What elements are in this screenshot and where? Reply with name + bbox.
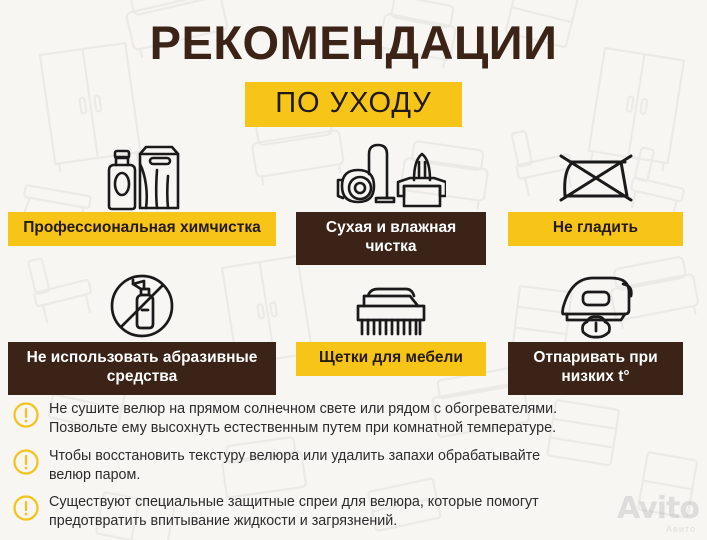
tip-text: Чтобы восстановить текстуру велюра или у… xyxy=(49,447,540,485)
care-card-icon-container xyxy=(8,270,276,342)
infographic-content: РЕКОМЕНДАЦИИ ПО УХОДУ xyxy=(0,0,707,540)
care-card-no-abrasives: Не использовать абразивные средства xyxy=(8,270,276,395)
warning-exclamation-icon xyxy=(12,494,40,522)
care-card-icon-container xyxy=(296,270,486,342)
care-card-label: Отпаривать при низких t° xyxy=(508,342,683,395)
vacuum-cleaner-and-wet-wipes-icon xyxy=(336,140,446,212)
tip-item: Существуют специальные защитные спреи дл… xyxy=(12,493,702,531)
tip-text: Существуют специальные защитные спреи дл… xyxy=(49,493,539,531)
care-card-icon-container xyxy=(508,270,683,342)
tip-text: Не сушите велюр на прямом солнечном свет… xyxy=(49,400,557,438)
care-card-steam-low-temp: Отпаривать при низких t° xyxy=(508,270,683,395)
infographic-page: Avito Авито РЕКОМЕНДАЦИИ ПО УХОДУ xyxy=(0,0,707,540)
care-card-label: Сухая и влажная чистка xyxy=(296,212,486,265)
page-title: РЕКОМЕНДАЦИИ xyxy=(0,19,707,66)
page-subtitle: ПО УХОДУ xyxy=(245,82,462,127)
detergent-bottle-and-pouch-icon xyxy=(96,140,188,212)
care-card-label: Не использовать абразивные средства xyxy=(8,342,276,395)
steam-iron-icon xyxy=(553,270,639,342)
care-card-icon-container xyxy=(508,140,683,212)
warning-exclamation-icon xyxy=(12,448,40,476)
tip-item: Не сушите велюр на прямом солнечном свет… xyxy=(12,400,702,438)
page-subtitle-container: ПО УХОДУ xyxy=(0,82,707,127)
warning-exclamation-icon xyxy=(12,401,40,429)
care-card-label: Щетки для мебели xyxy=(296,342,486,376)
care-card-dry-wet-cleaning: Сухая и влажная чистка xyxy=(296,140,486,265)
care-card-furniture-brushes: Щетки для мебели xyxy=(296,270,486,376)
no-abrasive-spray-icon xyxy=(106,270,178,342)
care-card-icon-container xyxy=(8,140,276,212)
care-card-professional-dry-cleaning: Профессиональная химчистка xyxy=(8,140,276,246)
care-card-label: Не гладить xyxy=(508,212,683,246)
care-card-do-not-iron: Не гладить xyxy=(508,140,683,246)
care-card-icon-container xyxy=(296,140,486,212)
tips-list: Не сушите велюр на прямом солнечном свет… xyxy=(12,400,702,540)
tip-item: Чтобы восстановить текстуру велюра или у… xyxy=(12,447,702,485)
care-card-label: Профессиональная химчистка xyxy=(8,212,276,246)
furniture-brush-icon xyxy=(348,270,434,342)
do-not-iron-icon xyxy=(555,140,637,212)
